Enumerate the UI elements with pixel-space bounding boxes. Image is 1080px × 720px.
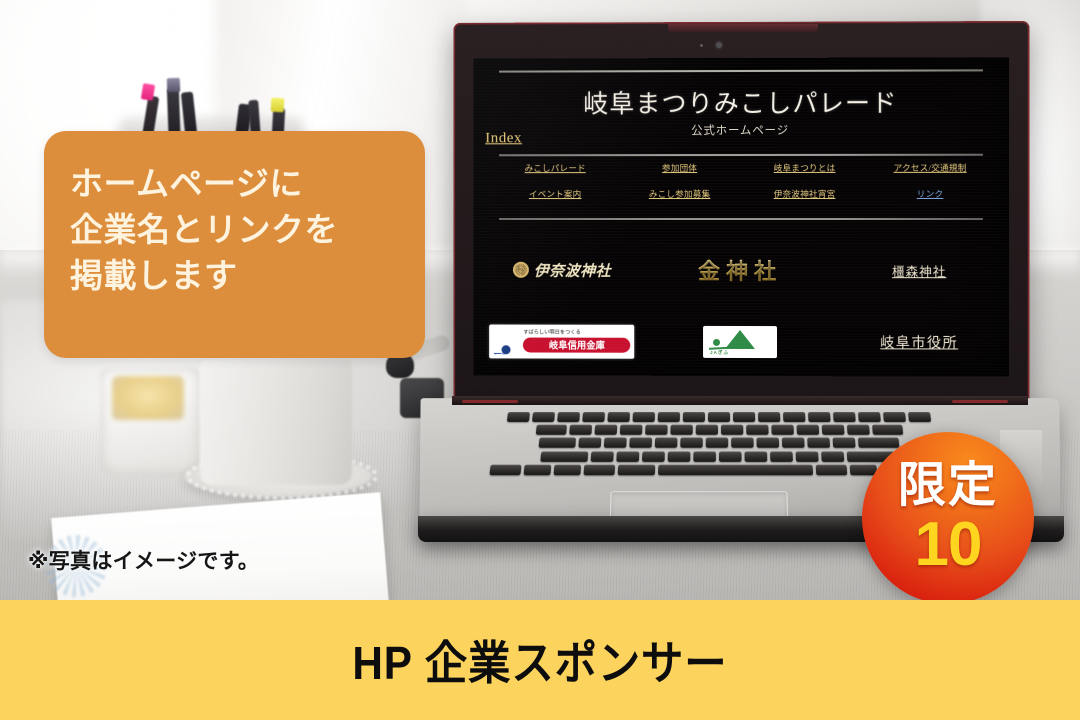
gifu-cityhall-label: 岐阜市役所 [880,332,958,352]
nav-link-inaba-shrine-yoimiya[interactable]: 伊奈波神社宵宮 [742,188,867,200]
sponsor-logos: 伊奈波神社 金神社 橿森神社 [473,234,1009,377]
hinge-accent-right [952,400,1008,403]
chrysanthemum-crest-icon [513,262,529,278]
divider-middle [499,154,983,156]
shinkin-text: すばらしい明日をつくる 岐阜信用金庫 [523,331,630,353]
callout-box: ホームページに 企業名とリンクを 掲載します [44,131,425,358]
ja-dot-icon [713,339,720,346]
callout-line-1: ホームページに [70,161,425,207]
badge-quantity-number: 10 [915,514,982,576]
nav-link-mikoshi-recruit[interactable]: みこし参加募集 [617,188,742,200]
index-label[interactable]: Index [485,130,522,147]
webcam-icon [716,42,722,48]
gifu-shinkin-bank-logo: すばらしい明日をつくる 岐阜信用金庫 [490,325,635,359]
bottom-banner: HP 企業スポンサー [0,600,1080,720]
divider-bottom [499,218,983,220]
nav-link-links[interactable]: リンク [867,188,993,200]
sponsor-cell-ja[interactable]: JAぎふ [651,326,830,358]
nav-link-mikoshi-parade[interactable]: みこしパレード [493,162,617,174]
site-nav: みこしパレード 参加団体 岐阜まつりとは アクセス/交通規制 イベント案内 みこ… [493,162,993,214]
keyboard-row-1 [451,412,988,422]
ja-gifu-logo: JAぎふ [703,326,777,358]
divider-top [499,69,983,72]
laptop-webcam-strip [668,24,818,32]
sponsor-cell-cityhall[interactable]: 岐阜市役所 [829,332,1009,352]
shinkin-tagline: すばらしい明日をつくる [523,331,630,336]
kashimori-shrine-label: 橿森神社 [892,261,946,280]
site-subtitle: 公式ホームページ [473,122,1009,139]
nav-row-2: イベント案内 みこし参加募集 伊奈波神社宵宮 リンク [493,188,993,200]
kogane-shrine-label: 金神社 [698,254,782,286]
inaba-shrine-logo: 伊奈波神社 [513,259,611,280]
callout-line-2: 企業名とリンクを [70,207,425,253]
sponsor-cell-kogane[interactable]: 金神社 [651,254,830,286]
nav-link-access-traffic[interactable]: アクセス/交通規制 [867,162,993,174]
keyboard-row-2 [449,425,990,435]
limited-quantity-badge: 限定 10 [862,432,1034,604]
site-title: 岐阜まつりみこしパレード [473,83,1009,120]
sponsor-row-2: すばらしい明日をつくる 岐阜信用金庫 JAぎ [473,306,1009,377]
website-page: 岐阜まつりみこしパレード 公式ホームページ Index みこしパレード 参加団体… [473,57,1009,376]
shinkin-mark-icon [493,329,519,355]
ja-label: JAぎふ [710,350,729,356]
sponsor-cell-kashimori[interactable]: 橿森神社 [829,261,1009,280]
photo-disclaimer-note: ※写真はイメージです。 [28,545,259,575]
nav-link-event-guide[interactable]: イベント案内 [493,188,617,200]
laptop-hinge [452,396,1028,405]
webcam-led-icon [700,44,703,47]
shinkin-name: 岐阜信用金庫 [523,337,630,353]
banner-title: HP 企業スポンサー [352,627,727,693]
nav-row-1: みこしパレード 参加団体 岐阜まつりとは アクセス/交通規制 [493,162,993,174]
sponsor-cell-shinkin[interactable]: すばらしい明日をつくる 岐阜信用金庫 [473,324,651,358]
sponsor-row-1: 伊奈波神社 金神社 橿森神社 [473,234,1009,306]
sponsor-cell-inaba[interactable]: 伊奈波神社 [473,259,651,280]
nav-link-participating-groups[interactable]: 参加団体 [617,162,742,174]
laptop-screen: 岐阜まつりみこしパレード 公式ホームページ Index みこしパレード 参加団体… [473,57,1009,376]
inaba-shrine-label: 伊奈波神社 [534,259,611,280]
poster-canvas: 岐阜まつりみこしパレード 公式ホームページ Index みこしパレード 参加団体… [0,0,1080,720]
callout-line-3: 掲載します [70,253,425,299]
nav-link-about-gifu-matsuri[interactable]: 岐阜まつりとは [742,162,867,174]
badge-limited-label: 限定 [898,462,998,510]
hinge-accent-left [462,400,518,403]
